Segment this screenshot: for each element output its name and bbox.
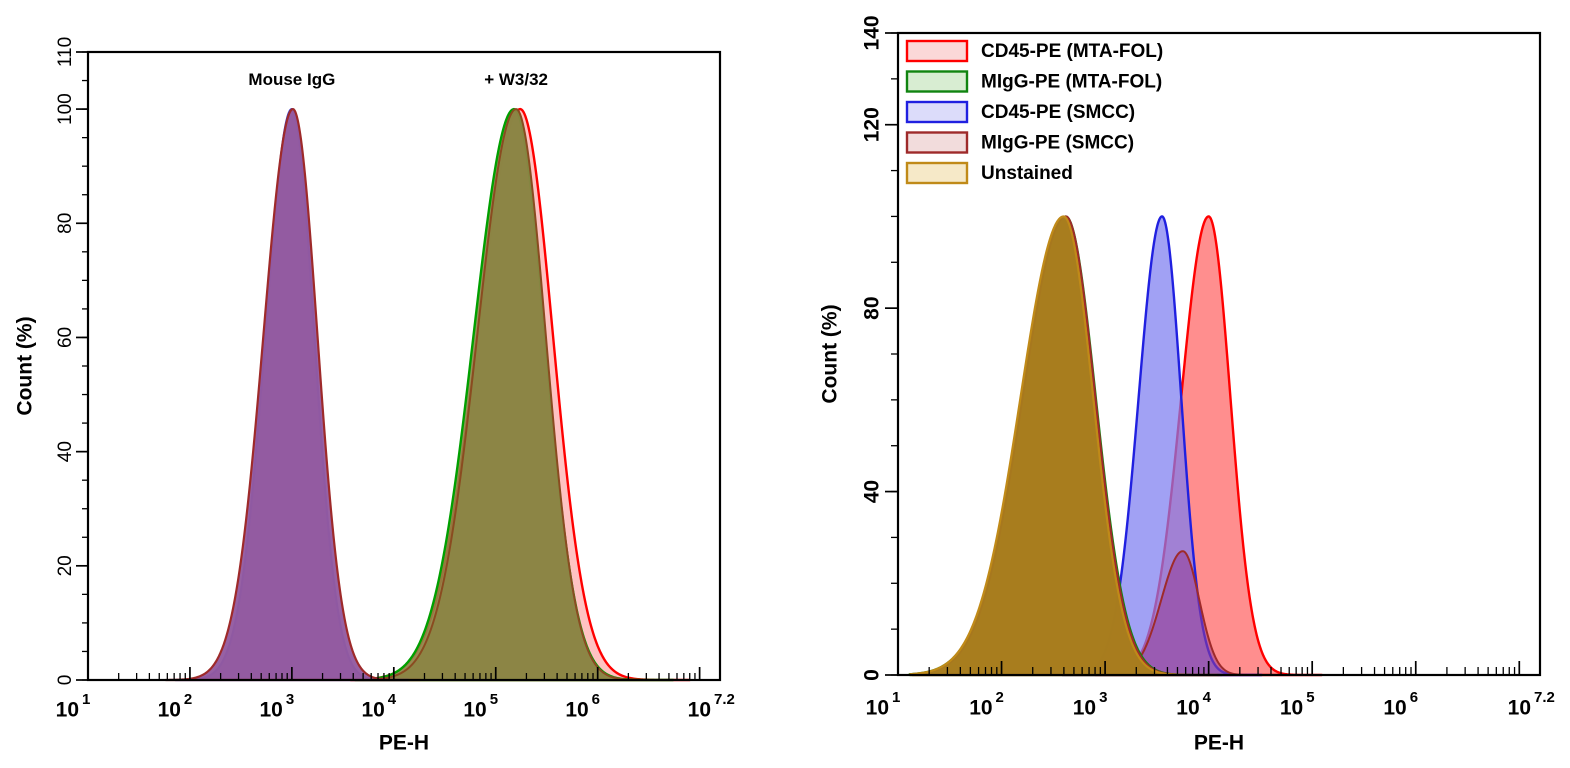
x-tick-mantissa: 10 <box>361 699 384 722</box>
x-tick-mantissa: 10 <box>866 697 889 720</box>
legend-label: Unstained <box>981 163 1073 184</box>
x-tick-mantissa: 10 <box>158 699 181 722</box>
right-y-tick-labels: 04080120140 <box>861 15 884 680</box>
x-tick-mantissa: 10 <box>56 699 79 722</box>
right-x-axis-title: PE-H <box>1194 732 1244 755</box>
legend: CD45-PE (MTA-FOL)MIgG-PE (MTA-FOL)CD45-P… <box>907 41 1163 184</box>
left-panel-svg: 020406080100110 101102103104105106107.2 … <box>0 0 785 768</box>
y-tick-label: 120 <box>861 107 884 142</box>
legend-swatch <box>907 102 967 122</box>
x-tick-mantissa: 10 <box>1073 697 1096 720</box>
left-histogram-panel: 020406080100110 101102103104105106107.2 … <box>0 0 785 768</box>
x-tick-exponent: 3 <box>286 691 294 708</box>
y-tick-label: 0 <box>861 669 884 681</box>
y-tick-label: 100 <box>55 93 76 125</box>
x-tick-mantissa: 10 <box>1280 697 1303 720</box>
left-x-axis-title: PE-H <box>379 732 429 755</box>
legend-swatch <box>907 72 967 92</box>
left-y-tick-labels: 020406080100110 <box>55 37 76 685</box>
peak-mouse-igg-purple-body <box>166 109 420 680</box>
right-peak-group <box>910 216 1322 675</box>
left-axis-ticks <box>76 52 700 680</box>
x-tick-exponent: 3 <box>1099 689 1107 706</box>
x-tick-exponent: 1 <box>892 689 900 706</box>
x-tick-mantissa: 10 <box>1383 697 1406 720</box>
y-tick-label: 60 <box>55 327 76 348</box>
x-tick-mantissa: 10 <box>688 699 711 722</box>
y-tick-label: 40 <box>55 441 76 462</box>
right-x-tick-labels: 101102103104105106107.2 <box>866 689 1555 720</box>
legend-label: MIgG-PE (MTA-FOL) <box>981 72 1162 93</box>
right-y-axis-title: Count (%) <box>819 304 842 403</box>
x-tick-exponent: 1 <box>82 691 90 708</box>
legend-label: CD45-PE (SMCC) <box>981 102 1135 123</box>
x-tick-mantissa: 10 <box>463 699 486 722</box>
y-tick-label: 80 <box>861 296 884 319</box>
y-tick-label: 140 <box>861 15 884 50</box>
x-tick-exponent: 5 <box>490 691 498 708</box>
y-tick-label: 0 <box>55 675 76 686</box>
y-tick-label: 80 <box>55 213 76 234</box>
x-tick-mantissa: 10 <box>969 697 992 720</box>
x-tick-mantissa: 10 <box>565 699 588 722</box>
legend-label: CD45-PE (MTA-FOL) <box>981 41 1163 62</box>
peak-w332-olive-body <box>362 109 669 680</box>
peak-label-w3-32: + W3/32 <box>484 70 548 89</box>
y-tick-label: 40 <box>861 480 884 503</box>
x-tick-exponent: 2 <box>184 691 192 708</box>
legend-swatch <box>907 163 967 183</box>
x-tick-exponent: 5 <box>1306 689 1314 706</box>
legend-label: MIgG-PE (SMCC) <box>981 133 1134 154</box>
x-tick-exponent: 2 <box>996 689 1004 706</box>
x-tick-mantissa: 10 <box>260 699 283 722</box>
x-tick-exponent: 4 <box>388 691 397 708</box>
x-tick-mantissa: 10 <box>1176 697 1199 720</box>
x-tick-exponent: 4 <box>1203 689 1212 706</box>
left-x-tick-labels: 101102103104105106107.2 <box>56 691 735 722</box>
legend-item[interactable]: CD45-PE (MTA-FOL) <box>907 41 1163 62</box>
legend-swatch <box>907 133 967 153</box>
y-tick-label: 110 <box>55 37 76 67</box>
flow-cytometry-figure: 020406080100110 101102103104105106107.2 … <box>0 0 1570 768</box>
x-tick-exponent: 7.2 <box>1534 689 1555 706</box>
right-panel-svg: 04080120140 101102103104105106107.2 PE-H… <box>785 0 1570 768</box>
right-histogram-panel: 04080120140 101102103104105106107.2 PE-H… <box>785 0 1570 768</box>
x-tick-exponent: 6 <box>592 691 600 708</box>
left-y-axis-title: Count (%) <box>14 316 37 415</box>
legend-swatch <box>907 41 967 61</box>
x-tick-mantissa: 10 <box>1508 697 1531 720</box>
left-plot-frame <box>88 52 720 680</box>
x-tick-exponent: 6 <box>1410 689 1418 706</box>
x-tick-exponent: 7.2 <box>714 691 735 708</box>
legend-item[interactable]: MIgG-PE (SMCC) <box>907 133 1134 154</box>
legend-item[interactable]: Unstained <box>907 163 1073 184</box>
left-peak-group <box>166 109 690 680</box>
legend-item[interactable]: CD45-PE (SMCC) <box>907 102 1135 123</box>
y-tick-label: 20 <box>55 555 76 576</box>
peak-label-mouse-igg: Mouse IgG <box>248 70 335 89</box>
legend-item[interactable]: MIgG-PE (MTA-FOL) <box>907 72 1162 93</box>
